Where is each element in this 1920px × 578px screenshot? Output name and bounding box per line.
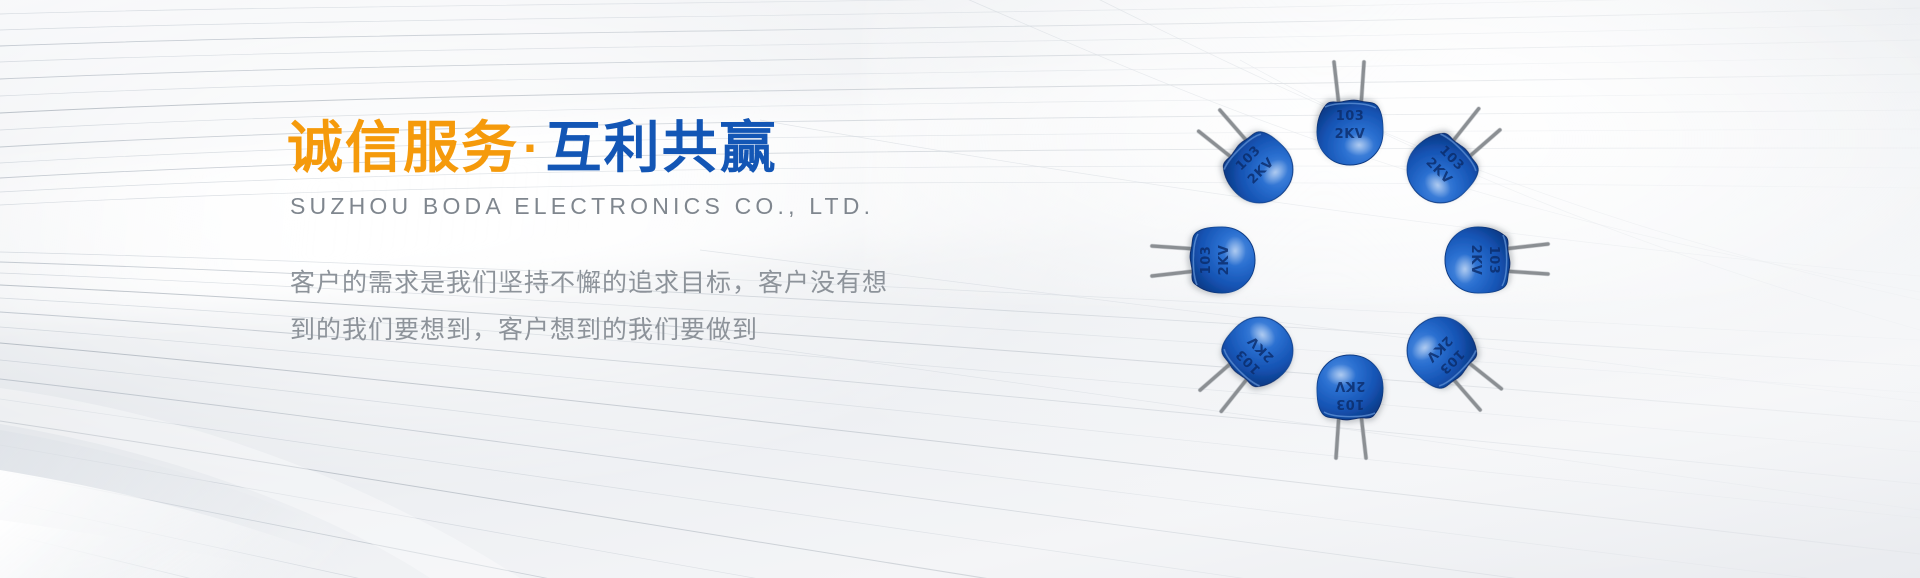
headline-part-orange: 诚信服务 [287,116,519,179]
svg-text:103: 103 [1336,396,1365,411]
capacitor-7: 103 2KV [1152,227,1255,293]
svg-text:2KV: 2KV [1335,378,1366,393]
capacitor-5: 103 2KV [1317,355,1383,458]
svg-text:2KV: 2KV [1468,245,1483,276]
headline-separator-dot: · [519,120,546,176]
capacitor-8: 103 2KV [1187,97,1307,217]
product-capacitor-ring: 103 2KV 103 2KV 103 [1150,60,1550,460]
capacitor-1: 103 2KV [1317,62,1383,165]
svg-text:103: 103 [1199,246,1214,275]
description-line-1: 客户的需求是我们坚持不懈的追求目标，客户没有想 [290,260,967,306]
banner-copy: 诚信服务·互利共赢 SUZHOU BODA ELECTRONICS CO., L… [287,118,967,353]
description-line-2: 到的我们要想到，客户想到的我们要做到 [290,307,967,353]
svg-text:2KV: 2KV [1217,245,1232,276]
banner-headline: 诚信服务·互利共赢 [287,118,967,177]
svg-text:103: 103 [1486,246,1501,275]
banner-subtitle-english: SUZHOU BODA ELECTRONICS CO., LTD. [290,193,967,220]
capacitor-marking-top: 103 [1336,109,1365,124]
banner-description: 客户的需求是我们坚持不懈的追求目标，客户没有想 到的我们要想到，客户想到的我们要… [290,260,967,353]
headline-part-blue: 互利共赢 [546,116,778,179]
capacitor-marking-bottom: 2KV [1335,127,1366,142]
hero-banner: 诚信服务·互利共赢 SUZHOU BODA ELECTRONICS CO., L… [0,0,1920,578]
capacitor-3: 103 2KV [1445,227,1548,293]
capacitor-2: 103 2KV [1394,97,1514,217]
capacitor-4: 103 2KV [1394,304,1514,424]
capacitor-6: 103 2KV [1187,304,1307,424]
